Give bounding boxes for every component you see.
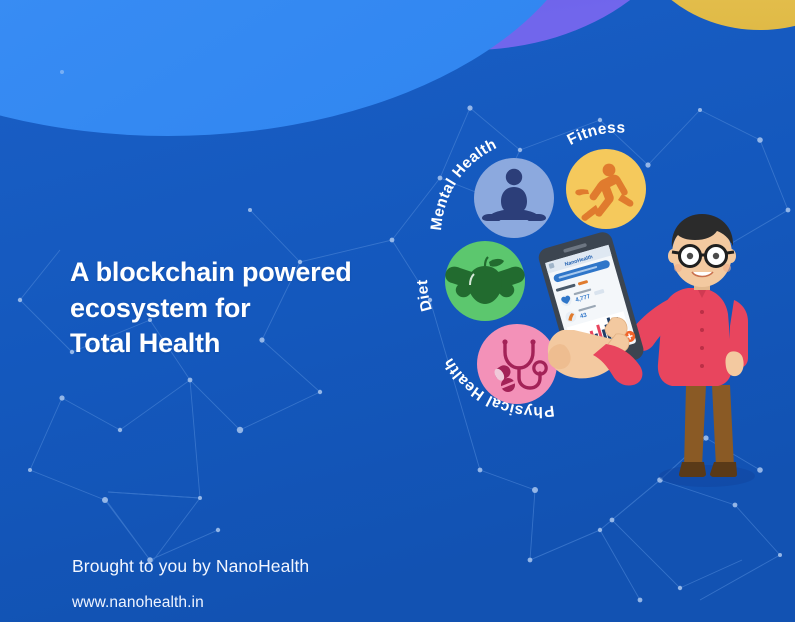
character-right-hand <box>725 351 743 376</box>
poster-canvas: A blockchain powered ecosystem for Total… <box>0 0 795 622</box>
badge-diet[interactable] <box>445 241 525 321</box>
badge-label-fitness: Fitness <box>564 119 625 148</box>
character-figure <box>628 214 755 487</box>
badge-label-diet: Diet <box>414 279 436 313</box>
illustration: Mental Health Fitness Diet Physical Heal… <box>0 0 795 622</box>
character-legs <box>684 385 734 467</box>
character-cheek-left <box>674 264 682 272</box>
character-shadow <box>659 465 755 487</box>
badge-fitness[interactable] <box>566 149 646 229</box>
badge-physical-health[interactable] <box>477 324 557 404</box>
character-cheek-right <box>723 264 731 272</box>
badge-mental-health[interactable] <box>474 158 554 238</box>
